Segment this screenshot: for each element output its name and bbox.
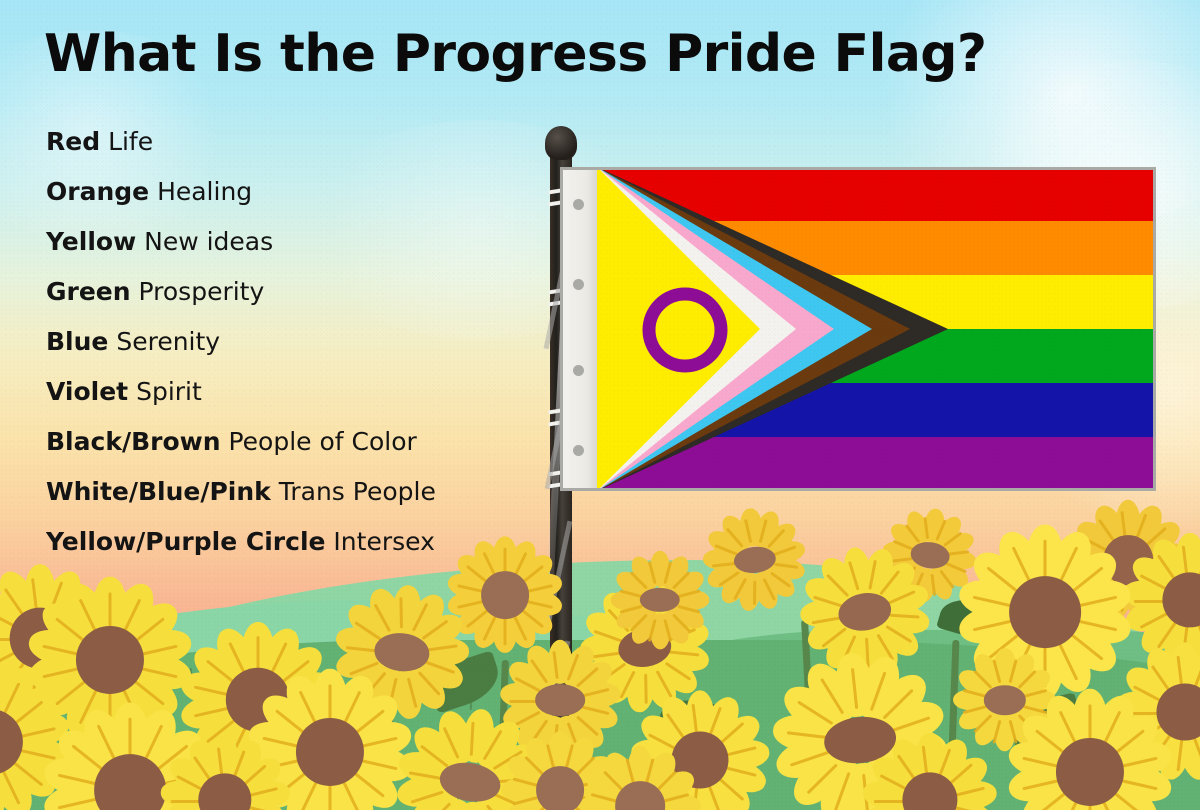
sunflower-core: [1009, 576, 1081, 648]
flag-grommet: [573, 445, 584, 456]
intersex-circle-icon: [597, 167, 1156, 491]
legend-meaning: Serenity: [116, 327, 220, 356]
sunflower-vein: [399, 597, 403, 628]
sunflower-vein: [257, 636, 260, 672]
list-item: Orange Healing: [46, 167, 436, 217]
sunflower-core: [481, 571, 529, 619]
list-item: Yellow/Purple Circle Intersex: [46, 517, 436, 567]
legend-meaning: New ideas: [144, 227, 273, 256]
legend-color-name: Red: [46, 127, 100, 156]
sunflower: [616, 556, 704, 644]
flag-grommet: [573, 279, 584, 290]
legend-meaning: Life: [108, 127, 153, 156]
sunflower: [1130, 540, 1200, 660]
sunflower: [586, 752, 694, 810]
sunflower-vein: [509, 700, 537, 703]
sunflower-vein: [129, 718, 132, 759]
sunflower-vein: [109, 592, 112, 630]
sunflower-core: [76, 626, 144, 694]
flag-grommet: [573, 199, 584, 210]
sunflower-vein: [753, 581, 756, 605]
legend-meaning: Healing: [157, 177, 252, 206]
legend-meaning: Trans People: [279, 477, 436, 506]
page-title: What Is the Progress Pride Flag?: [44, 24, 987, 84]
list-item: Green Prosperity: [46, 267, 436, 317]
sunflower-vein: [329, 684, 332, 722]
sunflower: [1016, 698, 1164, 810]
list-item: Red Life: [46, 117, 436, 167]
flag-hoist-sleeve: [560, 167, 597, 491]
sunflower: [167, 742, 283, 810]
legend-color-name: Violet: [46, 377, 128, 406]
sunflower-vein: [1089, 704, 1092, 742]
list-item: Black/Brown People of Color: [46, 417, 436, 467]
sunflower-core: [535, 684, 585, 716]
sunflower-vein: [1134, 600, 1165, 603]
flagpole-finial-icon: [545, 126, 577, 160]
flag-field: [597, 167, 1156, 491]
sunflower-vein: [329, 785, 332, 810]
sunflower-vein: [170, 800, 200, 803]
list-item: Violet Spirit: [46, 367, 436, 417]
sunflower: [453, 543, 557, 647]
sunflower-core: [536, 766, 584, 810]
legend-meaning: Prosperity: [139, 277, 265, 306]
list-item: Blue Serenity: [46, 317, 436, 367]
legend-color-name: Orange: [46, 177, 149, 206]
flag-grommet: [573, 365, 584, 376]
list-item: Yellow New ideas: [46, 217, 436, 267]
sunflower-vein: [504, 618, 507, 645]
sunflower: [704, 509, 805, 610]
legend-color-name: Yellow/Purple Circle: [46, 527, 325, 556]
legend-color-name: Black/Brown: [46, 427, 221, 456]
sunflower-vein: [874, 800, 905, 803]
legend-meaning: Intersex: [333, 527, 434, 556]
legend-color-name: Green: [46, 277, 131, 306]
sunflower-core: [1056, 738, 1124, 806]
legend-meaning: Spirit: [136, 377, 202, 406]
legend-meaning: People of Color: [228, 427, 416, 456]
sunflower: [870, 740, 990, 810]
legend-color-name: White/Blue/Pink: [46, 477, 271, 506]
sunflower-core: [296, 718, 364, 786]
infographic-poster: What Is the Progress Pride Flag? Red Lif…: [0, 0, 1200, 810]
progress-pride-flag: [560, 167, 1156, 491]
sunflower-vein: [1044, 540, 1047, 581]
list-item: White/Blue/Pink Trans People: [46, 467, 436, 517]
legend-color-name: Blue: [46, 327, 108, 356]
flag-color-legend: Red Life Orange Healing Yellow New ideas…: [46, 117, 436, 567]
legend-color-name: Yellow: [46, 227, 136, 256]
